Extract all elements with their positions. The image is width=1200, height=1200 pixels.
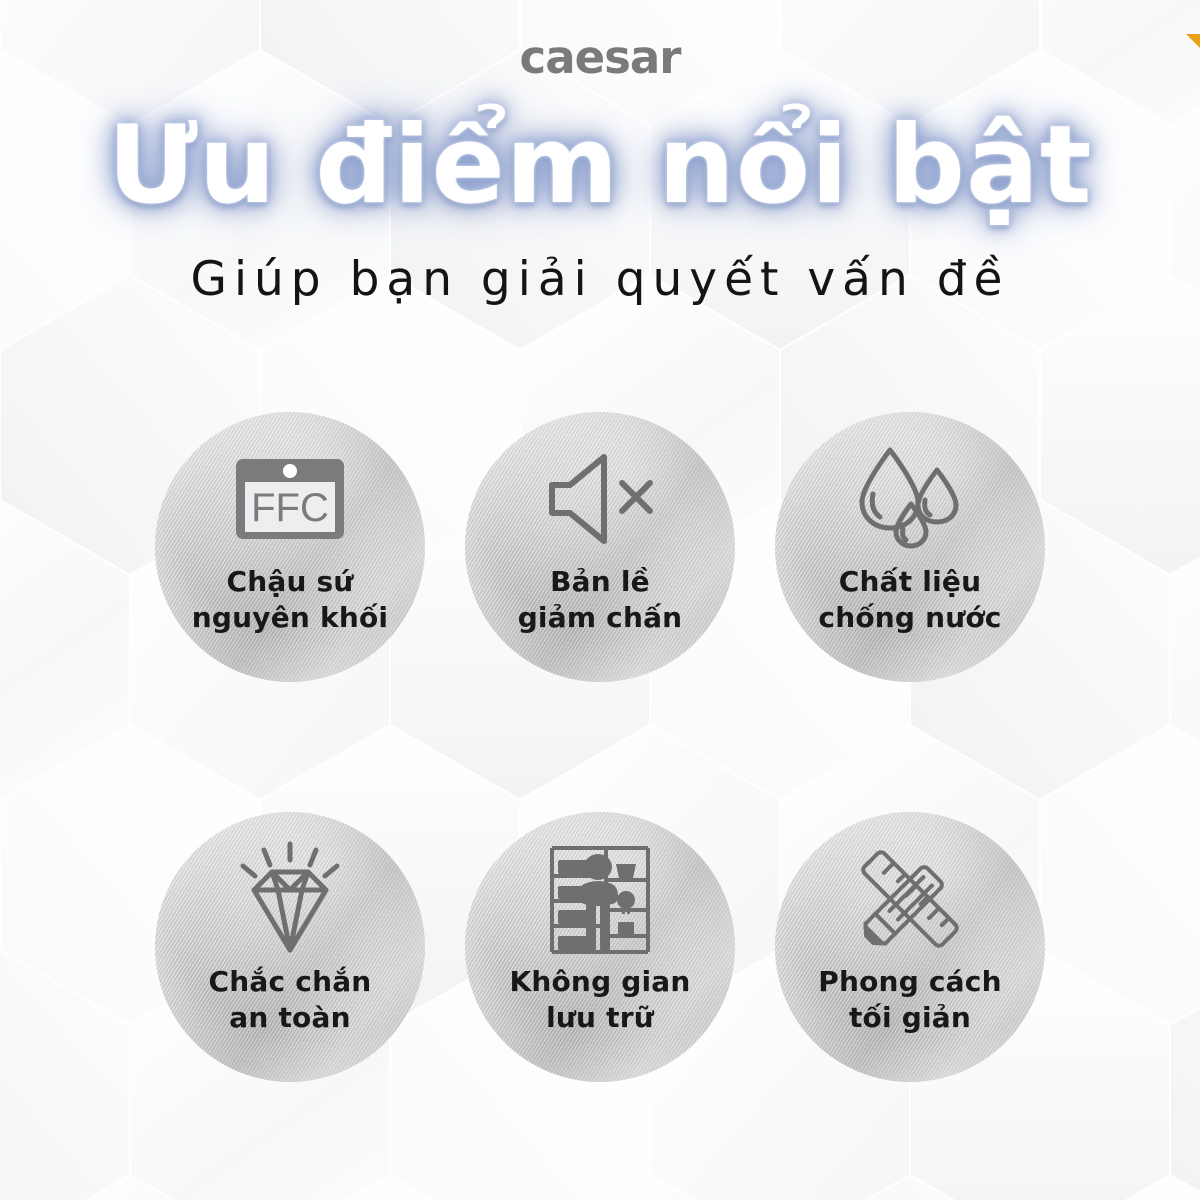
feature-label: Chất liệu chống nước — [785, 564, 1035, 636]
brand-logo-text: caesar — [520, 32, 681, 84]
feature-grid: FFC Chậu sứ nguyên khối Bản lề giảm chấn — [155, 412, 1045, 1082]
feature-label: Chắc chắn an toàn — [165, 964, 415, 1036]
feature-label: Phong cách tối giản — [785, 964, 1035, 1036]
logo-triangle-accent-icon — [1186, 34, 1200, 49]
feature-circle-chac-chan-an-toan[interactable]: Chắc chắn an toàn — [155, 812, 425, 1082]
ffc-sign-icon: FFC — [234, 446, 346, 552]
diamond-sparkle-icon — [231, 846, 349, 952]
feature-circle-chau-su-nguyen-khoi[interactable]: FFC Chậu sứ nguyên khối — [155, 412, 425, 682]
feature-label: Không gian lưu trữ — [475, 964, 725, 1036]
feature-label: Chậu sứ nguyên khối — [165, 564, 415, 636]
feature-circle-phong-cach-toi-gian[interactable]: Phong cách tối giản — [775, 812, 1045, 1082]
ffc-label: FFC — [251, 486, 329, 530]
speaker-mute-icon — [544, 446, 656, 552]
page-subtitle: Giúp bạn giải quyết vấn đề — [191, 252, 1010, 308]
feature-row-bottom: Chắc chắn an toàn — [155, 812, 1045, 1082]
brand-logo: caesar — [0, 32, 1200, 88]
feature-circle-ban-le-giam-chan[interactable]: Bản lề giảm chấn — [465, 412, 735, 682]
page-title: Ưu điểm nổi bật — [108, 108, 1093, 224]
title-container: Ưu điểm nổi bật — [0, 108, 1200, 224]
feature-row-top: FFC Chậu sứ nguyên khối Bản lề giảm chấn — [155, 412, 1045, 682]
feature-circle-khong-gian-luu-tru[interactable]: Không gian lưu trữ — [465, 812, 735, 1082]
water-drops-icon — [858, 446, 962, 552]
feature-circle-chat-lieu-chong-nuoc[interactable]: Chất liệu chống nước — [775, 412, 1045, 682]
subtitle-container: Giúp bạn giải quyết vấn đề — [0, 252, 1200, 308]
poster: caesar Ưu điểm nổi bật Giúp bạn giải quy… — [0, 0, 1200, 1200]
pencil-ruler-icon — [851, 846, 969, 952]
feature-label: Bản lề giảm chấn — [475, 564, 725, 636]
storage-shelf-person-icon — [546, 846, 654, 952]
